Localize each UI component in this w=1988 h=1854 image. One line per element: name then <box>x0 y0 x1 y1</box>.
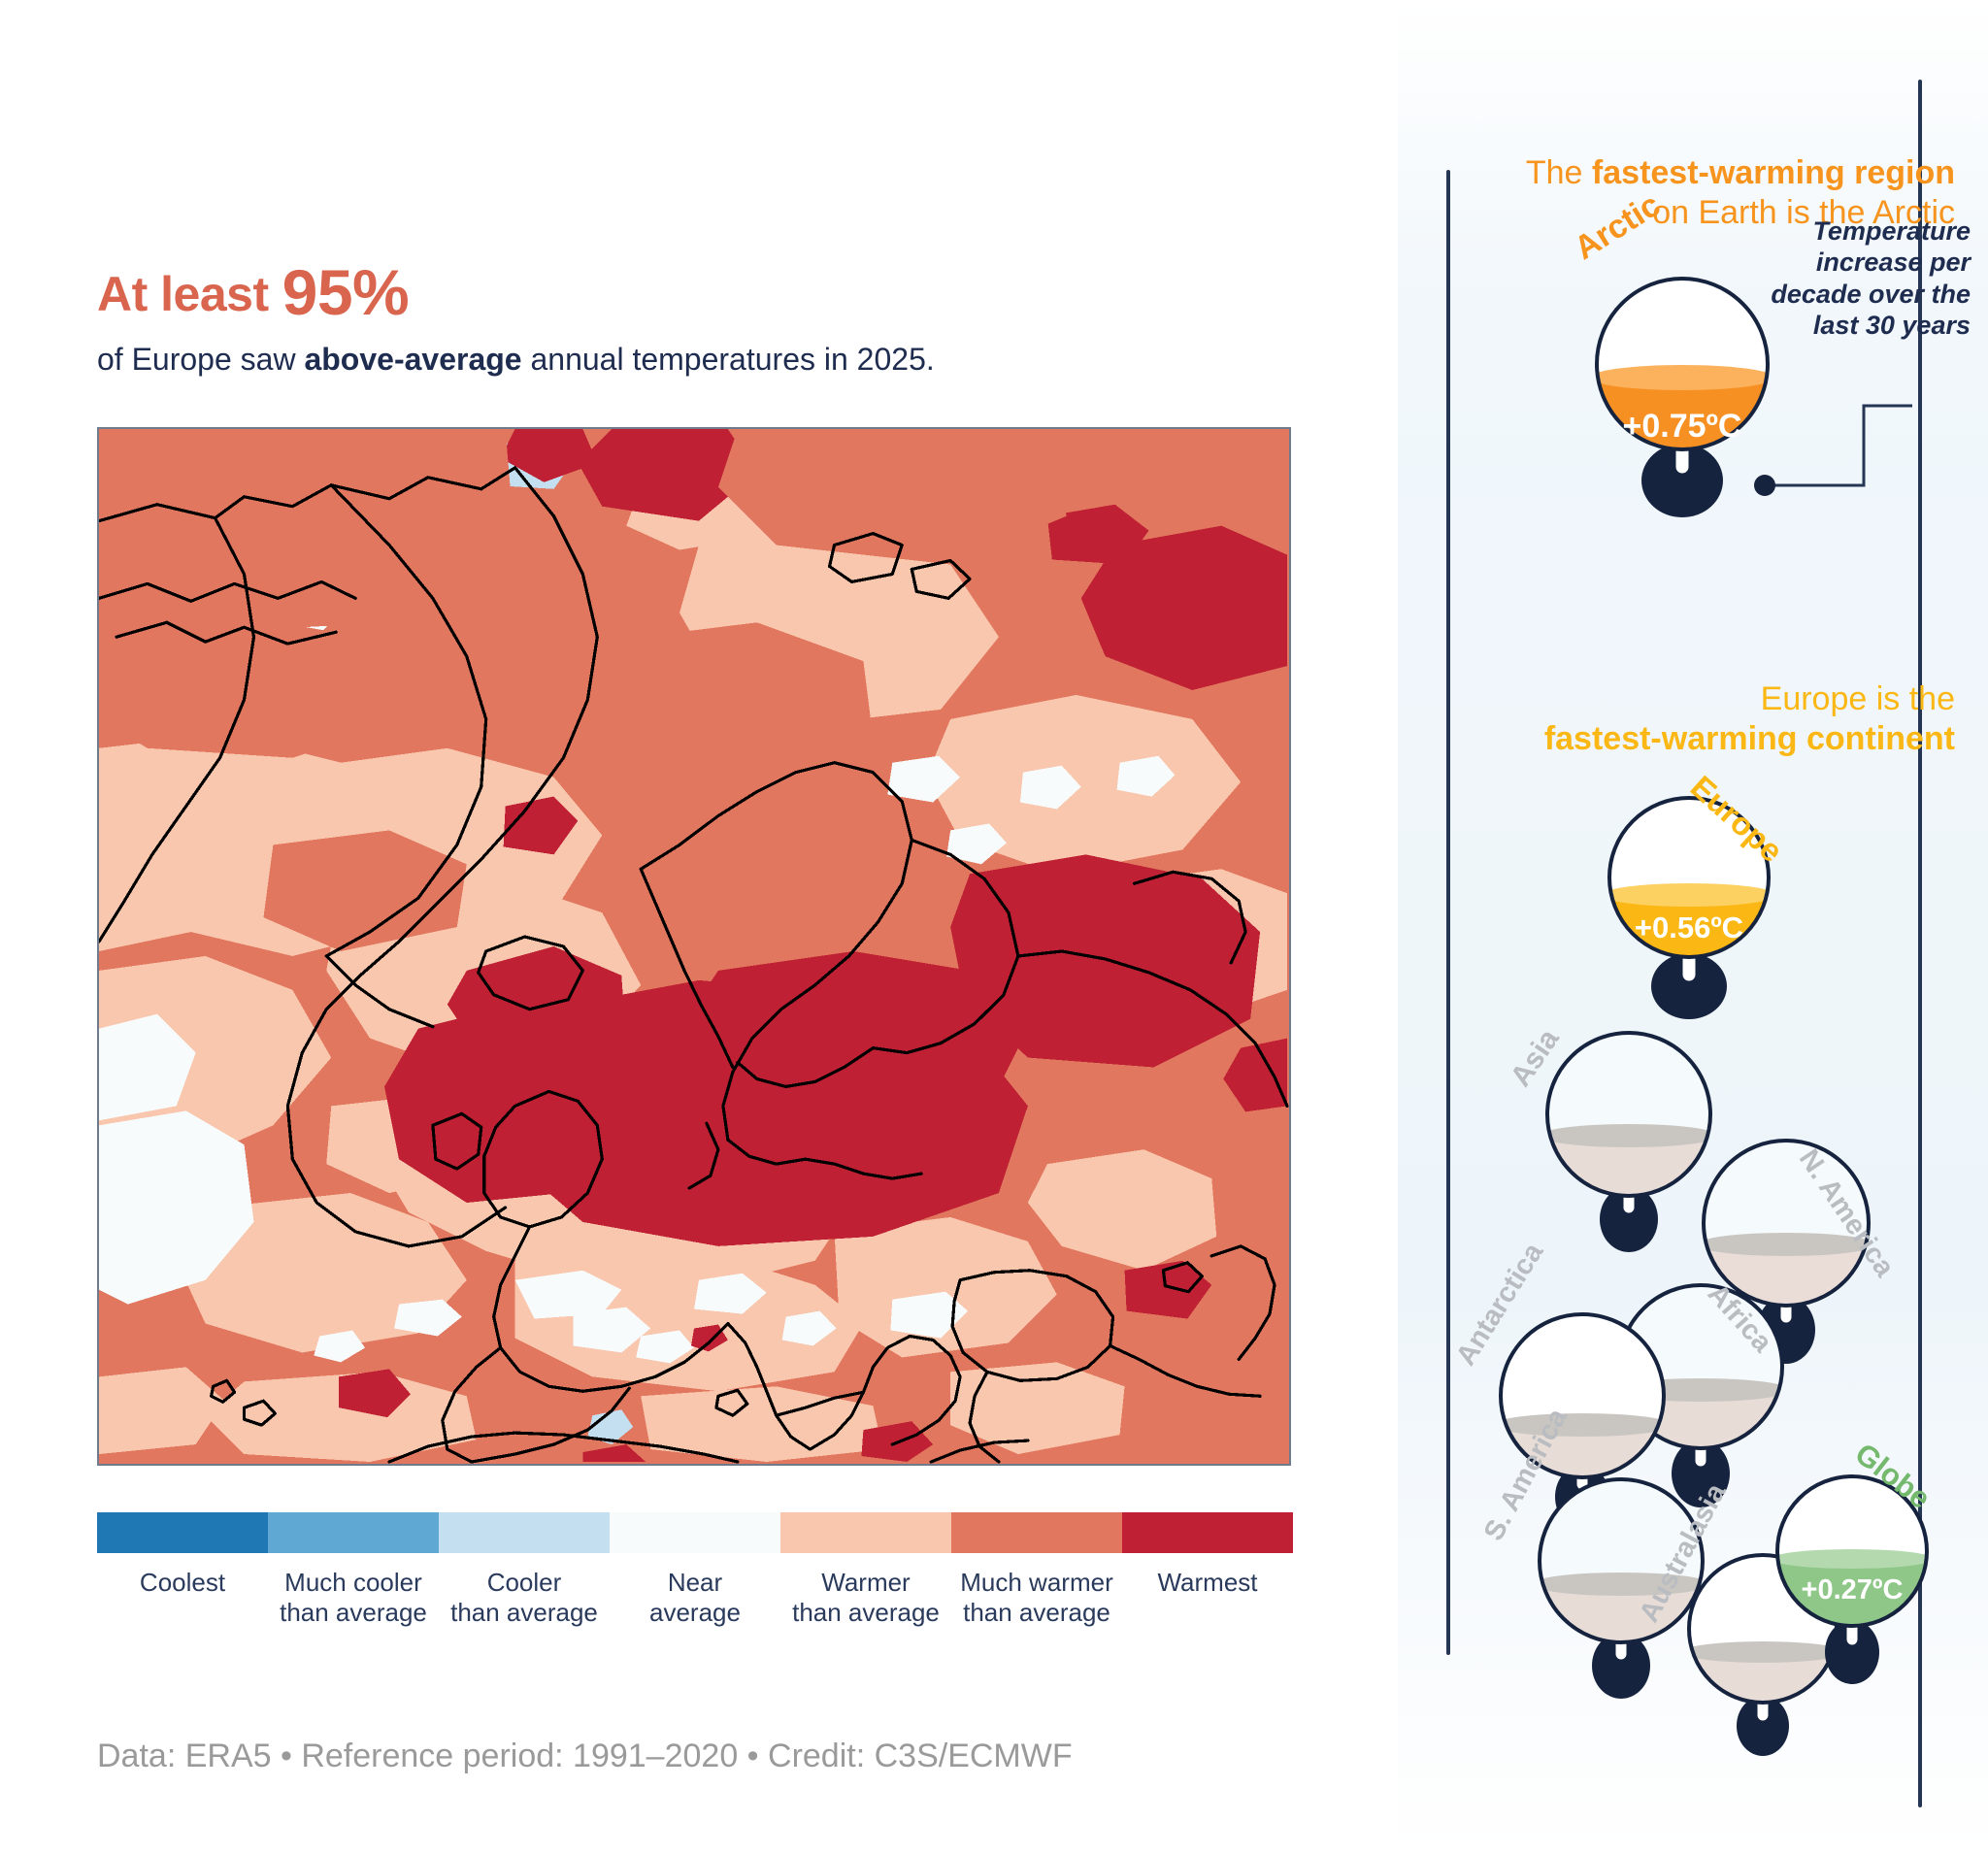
panel-rule-left <box>1446 170 1450 1655</box>
legend-item: Much cooler than average <box>268 1512 439 1648</box>
temperature-anomaly-map <box>97 427 1291 1466</box>
subheadline: of Europe saw above-average annual tempe… <box>97 342 935 378</box>
legend-label: Warmer than average <box>792 1568 940 1627</box>
map-legend: Coolest Much cooler than average Cooler … <box>97 1512 1293 1648</box>
legend-item: Coolest <box>97 1512 268 1648</box>
europe-heading-bold: fastest-warming continent <box>1544 720 1955 757</box>
subhead-emphasis: above-average <box>304 342 521 377</box>
legend-swatch-coolest <box>97 1512 268 1553</box>
source-footer: Data: ERA5 • Reference period: 1991–2020… <box>97 1738 1073 1775</box>
headline: At least95% <box>97 260 409 324</box>
legend-item: Cooler than average <box>439 1512 610 1648</box>
subhead-text-b: annual temperatures in 2025. <box>522 342 935 377</box>
legend-item: Warmest <box>1122 1512 1293 1648</box>
arctic-heading-plain-a: The <box>1526 154 1592 191</box>
legend-label: Much cooler than average <box>280 1568 427 1627</box>
callout-text: Temperature increase per decade over the… <box>1767 215 1971 342</box>
legend-label: Warmest <box>1157 1568 1257 1598</box>
thermometer-value-globe: +0.27ºC <box>1774 1574 1930 1606</box>
headline-value: 95% <box>282 256 410 328</box>
thermometer-s-america: S. America <box>1534 1475 1708 1718</box>
legend-swatch-much-warmer <box>951 1512 1122 1553</box>
thermometer-globe: +0.27ºC Globe <box>1774 1473 1930 1706</box>
thermometer-value-europe: +0.56ºC <box>1604 910 1774 945</box>
legend-swatch-near-average <box>610 1512 780 1553</box>
thermometer-value-arctic: +0.75ºC <box>1590 408 1774 446</box>
legend-item: Warmer than average <box>780 1512 951 1648</box>
legend-label: Much warmer than average <box>960 1568 1112 1627</box>
legend-item: Much warmer than average <box>951 1512 1122 1648</box>
europe-heading-plain: Europe is the <box>1761 680 1955 717</box>
thermometer-europe: +0.56ºC Europe <box>1604 796 1774 1019</box>
infographic-root: At least95% of Europe saw above-average … <box>0 0 1988 1854</box>
legend-label: Near average <box>649 1568 741 1627</box>
legend-item: Near average <box>610 1512 780 1648</box>
legend-swatch-warmest <box>1122 1512 1293 1553</box>
subhead-text-a: of Europe saw <box>97 342 304 377</box>
legend-swatch-much-cooler <box>268 1512 439 1553</box>
legend-label: Cooler than average <box>450 1568 598 1627</box>
right-panel: The fastest-warming region on Earth is t… <box>1398 0 1988 1854</box>
left-column: At least95% of Europe saw above-average … <box>0 0 1398 1854</box>
legend-label: Coolest <box>140 1568 225 1598</box>
thermometer-arctic: +0.75ºC Arctic <box>1590 277 1774 519</box>
europe-heading: Europe is the fastest-warming continent <box>1544 679 1955 760</box>
legend-swatch-warmer <box>780 1512 951 1553</box>
headline-prefix: At least <box>97 267 269 321</box>
thermometer-asia: Asia <box>1541 1029 1716 1262</box>
legend-swatch-cooler <box>439 1512 610 1553</box>
map-canvas <box>99 429 1289 1464</box>
